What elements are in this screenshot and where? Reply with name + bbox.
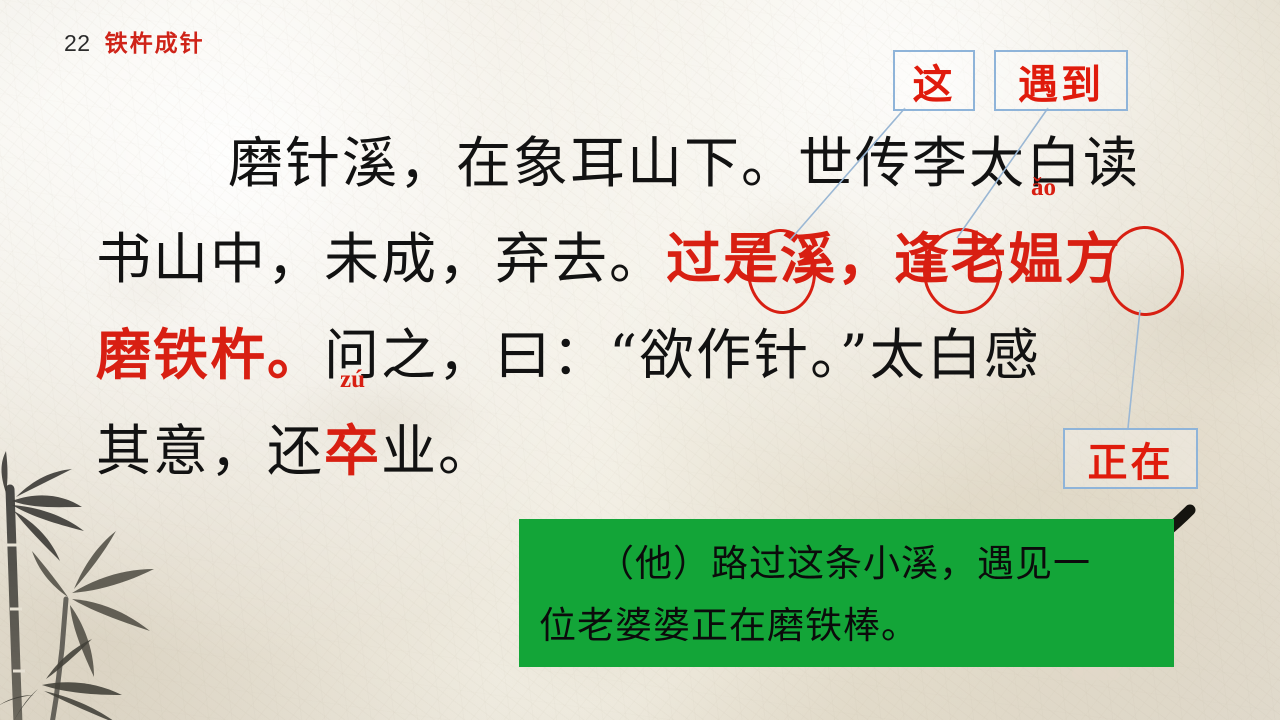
callout-box-zhe[interactable]: 这 [893,50,975,111]
page-title: 铁杵成针 [105,24,205,58]
lesson-number: 22 [64,30,91,57]
line3-segment-red: 磨铁杵。 [96,310,324,390]
callout-label-zhe: 这 [913,52,956,110]
callout-box-zhengzai[interactable]: 正在 [1063,428,1198,489]
translation-line-2: 位老婆婆正在磨铁棒。 [539,595,1154,657]
line1-segment-1: 磨针溪，在象耳山下。世传李太白读 [228,118,1140,198]
slide-canvas: 22 铁杵成针 [0,0,1280,720]
translation-panel: （他）路过这条小溪，遇见一 位老婆婆正在磨铁棒。 [519,519,1174,667]
passage-line-3: 磨铁杵。问之，曰：“欲作针。”太白感 [0,310,1280,406]
line4-segment-zu: 卒 [324,406,381,486]
pinyin-zu: zú [340,366,365,394]
passage-line-1: 磨针溪，在象耳山下。世传李太白读 [0,118,1280,214]
callout-label-zhengzai: 正在 [1088,430,1174,488]
line2-segment-black: 书山中，未成，弃去。 [96,214,666,294]
translation-line-1: （他）路过这条小溪，遇见一 [539,533,1154,595]
slide-header: 22 铁杵成针 [64,24,205,58]
line2-segment-red: 过是溪，逢老媪方 [666,214,1122,294]
line4-segment-3: 业。 [381,406,495,486]
ruby-ao: 过是溪，逢老媪方ǎo [666,214,1122,294]
pinyin-ao: ǎo [1031,174,1056,202]
callout-box-yudao[interactable]: 遇到 [994,50,1128,111]
passage-line-2: 书山中，未成，弃去。过是溪，逢老媪方ǎo [0,214,1280,310]
ruby-zu: 卒zú [324,406,381,486]
callout-label-yudao: 遇到 [1018,52,1104,110]
line3-segment-black: 问之，曰：“欲作针。”太白感 [324,310,1041,390]
line4-segment-1: 其意，还 [96,406,324,486]
